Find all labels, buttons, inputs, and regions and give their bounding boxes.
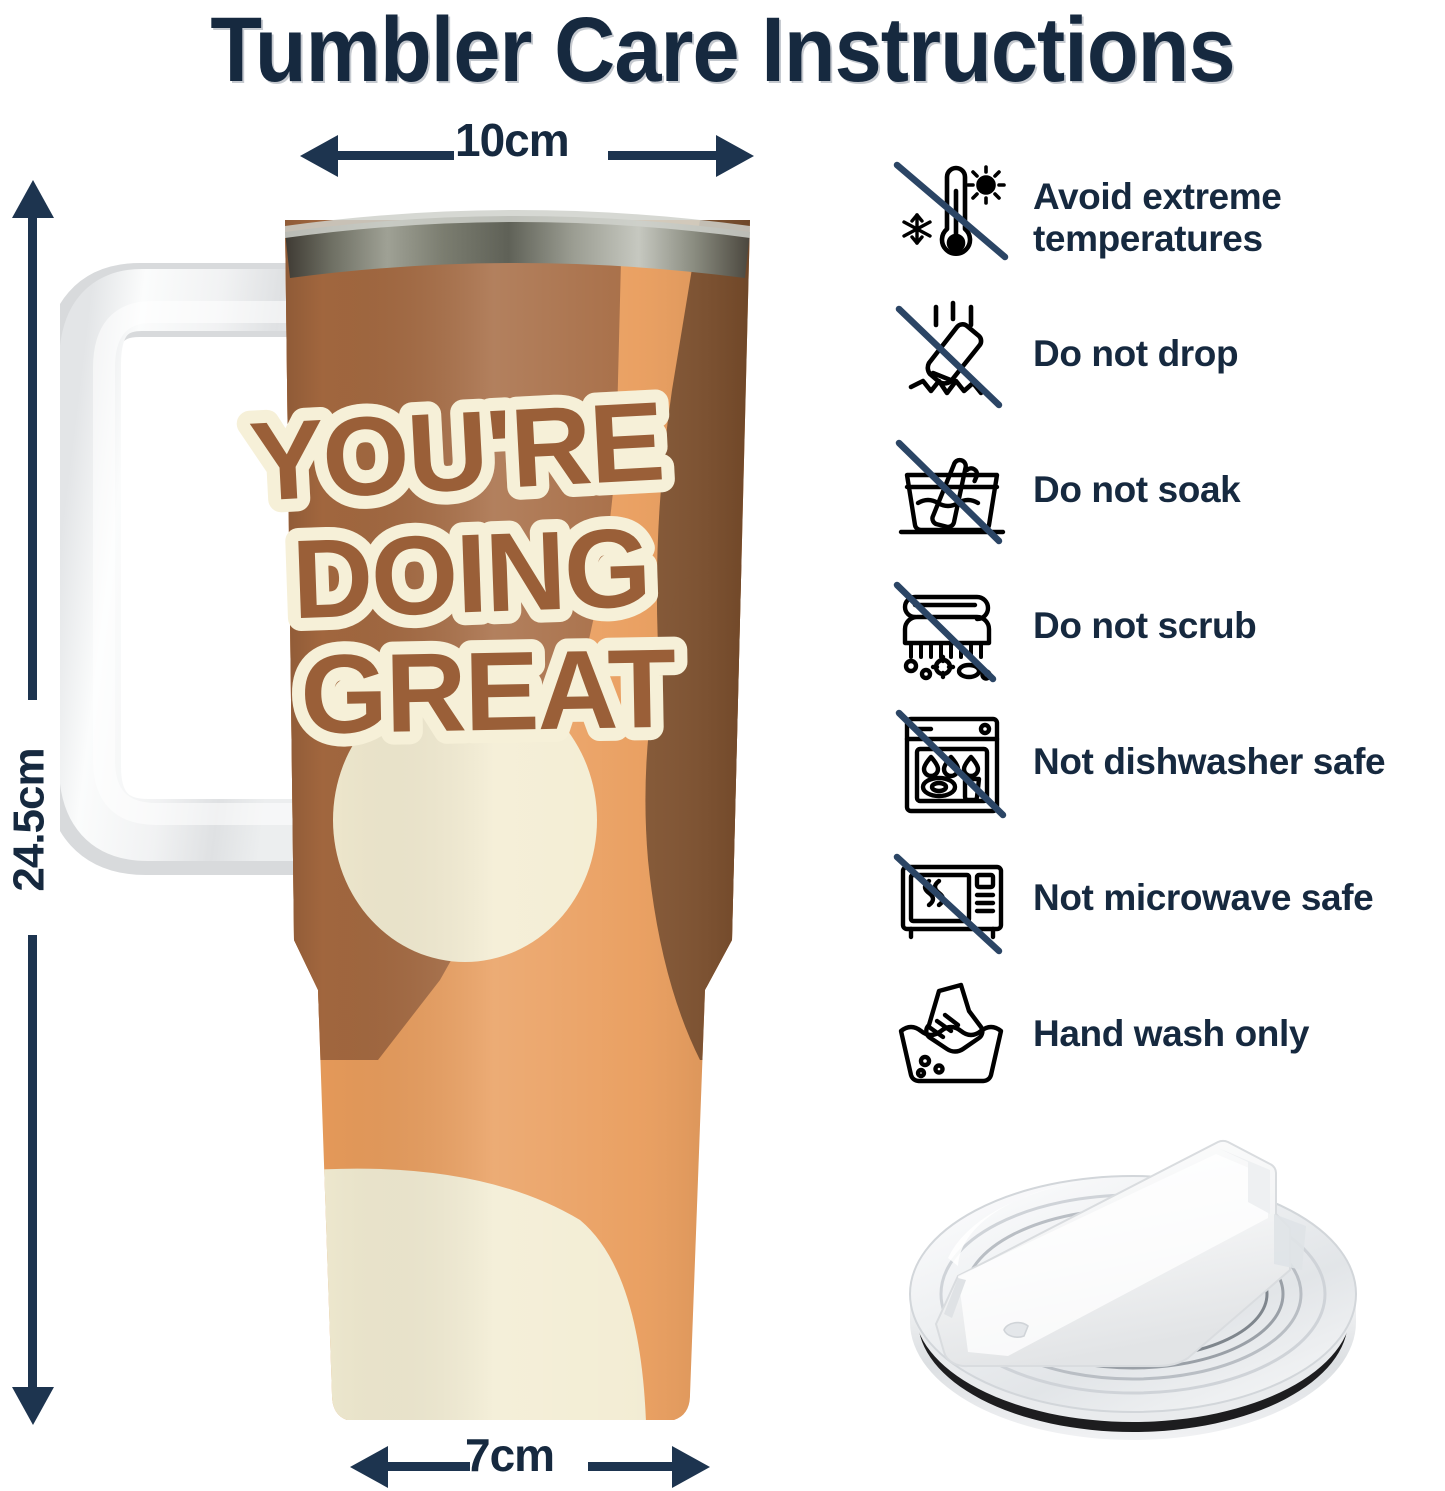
care-label: Hand wash only: [1033, 1013, 1309, 1056]
page-title: Tumbler Care Instructions: [58, 0, 1387, 103]
care-label: Do not drop: [1033, 333, 1238, 376]
dimension-bottom-label: 7cm: [465, 1428, 554, 1482]
care-instructions-list: Avoid extreme temperatures: [893, 150, 1445, 1102]
care-row: Hand wash only: [893, 966, 1445, 1102]
no-drop-icon: [893, 295, 1011, 413]
dimension-left-label: 24.5cm: [5, 748, 55, 891]
care-row: Do not soak: [893, 422, 1445, 558]
artwork-line-1: YOU'RE: [247, 378, 666, 524]
tumbler-handle: [82, 300, 308, 838]
lid-photo: [888, 1118, 1378, 1478]
infographic-page: Tumbler Care Instructions 10cm 24.5cm 7c…: [0, 0, 1445, 1491]
care-row: Not microwave safe: [893, 830, 1445, 966]
care-row: Not dishwasher safe: [893, 694, 1445, 830]
no-scrub-brush-icon: [893, 567, 1011, 685]
dimension-line: [28, 216, 37, 700]
arrow-right-icon: [672, 1446, 710, 1488]
dimension-line: [608, 151, 718, 160]
no-microwave-icon: [893, 839, 1011, 957]
care-row: Do not drop: [893, 286, 1445, 422]
hand-wash-icon: [893, 975, 1011, 1093]
care-label: Not microwave safe: [1033, 877, 1373, 920]
care-row: Avoid extreme temperatures: [893, 150, 1445, 286]
dimension-line: [336, 151, 454, 160]
tumbler-body: [260, 200, 780, 1420]
arrow-left-icon: [350, 1446, 388, 1488]
care-label: Not dishwasher safe: [1033, 741, 1385, 784]
care-row: Do not scrub: [893, 558, 1445, 694]
arrow-down-icon: [12, 1387, 54, 1425]
no-dishwasher-icon: [893, 703, 1011, 821]
care-label: Avoid extreme temperatures: [1033, 176, 1281, 260]
dimension-line: [588, 1462, 674, 1471]
arrow-up-icon: [12, 180, 54, 218]
tumbler-artwork-text: YOU'RE DOING GREAT: [247, 378, 677, 757]
tumbler-illustration: YOU'RE DOING GREAT: [60, 160, 840, 1420]
care-label: Do not soak: [1033, 469, 1240, 512]
tumbler-svg: YOU'RE DOING GREAT: [60, 160, 840, 1420]
dimension-top-label: 10cm: [455, 113, 569, 167]
care-label: Do not scrub: [1033, 605, 1256, 648]
dimension-line: [28, 935, 37, 1387]
artwork-line-3: GREAT: [299, 626, 676, 758]
no-extreme-temperature-icon: [893, 159, 1011, 277]
no-soak-icon: [893, 431, 1011, 549]
artwork-line-2: DOING: [290, 505, 651, 642]
dimension-line: [386, 1462, 470, 1471]
